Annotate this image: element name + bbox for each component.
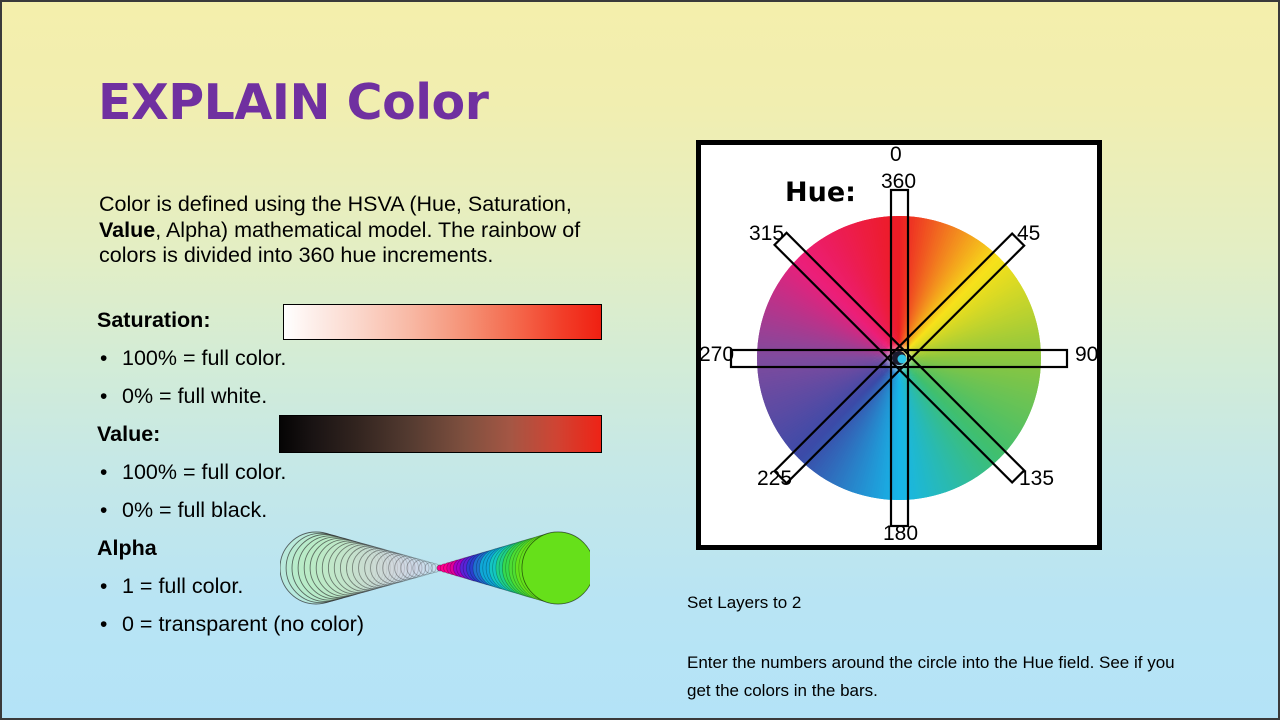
saturation-gradient-bar [283,304,602,340]
list-item-label: 0% = full white. [122,384,267,408]
intro-bold-value: Value [99,218,155,242]
hue-axis-label-90: 90 [1075,343,1098,367]
alpha-left-transparent-cone [280,532,443,604]
value-heading: Value: [97,422,160,447]
hue-axis-label-135: 135 [1019,467,1054,491]
bullet-marker-icon: • [100,614,122,635]
value-gradient-bar [279,415,602,453]
alpha-heading: Alpha [97,536,157,561]
hue-axis-label-360: 360 [881,170,916,194]
hue-wheel-center-cyan-dot [898,355,907,364]
alpha-right-saturated-cone [437,532,590,604]
instruction-line-1: Set Layers to 2 [687,593,801,613]
list-item: •0 = transparent (no color) [100,612,364,637]
slide-canvas: EXPLAIN Color Color is defined using the… [0,0,1280,720]
intro-text-part2: , Alpha) mathematical model. The rainbow… [99,218,580,268]
list-item: •1 = full color. [100,574,243,599]
hue-axis-label-270: 270 [699,343,734,367]
list-item-label: 0% = full black. [122,498,267,522]
intro-text-part1: Color is defined using the HSVA (Hue, Sa… [99,192,572,216]
bullet-marker-icon: • [100,348,122,369]
bullet-marker-icon: • [100,462,122,483]
bullet-marker-icon: • [100,576,122,597]
list-item-label: 1 = full color. [122,574,243,598]
list-item-label: 0 = transparent (no color) [122,612,364,636]
bullet-marker-icon: • [100,500,122,521]
page-title: EXPLAIN Color [98,74,488,131]
hue-axis-label-0: 0 [890,143,902,167]
list-item: •0% = full black. [100,498,267,523]
hue-wheel-panel: Hue: 0 360 45 90 13 [696,140,1102,550]
intro-paragraph: Color is defined using the HSVA (Hue, Sa… [99,192,634,269]
hue-axis-label-180: 180 [883,522,918,546]
list-item-label: 100% = full color. [122,460,286,484]
list-item-label: 100% = full color. [122,346,286,370]
hue-axis-label-225: 225 [757,467,792,491]
list-item: •100% = full color. [100,460,286,485]
alpha-cone-svg [280,529,590,607]
saturation-heading: Saturation: [97,308,210,333]
hue-axis-label-315: 315 [749,222,784,246]
list-item: •0% = full white. [100,384,267,409]
bullet-marker-icon: • [100,386,122,407]
instruction-line-2: Enter the numbers around the circle into… [687,649,1187,705]
list-item: •100% = full color. [100,346,286,371]
alpha-cone-illustration [280,529,590,607]
hue-axis-label-45: 45 [1017,222,1040,246]
